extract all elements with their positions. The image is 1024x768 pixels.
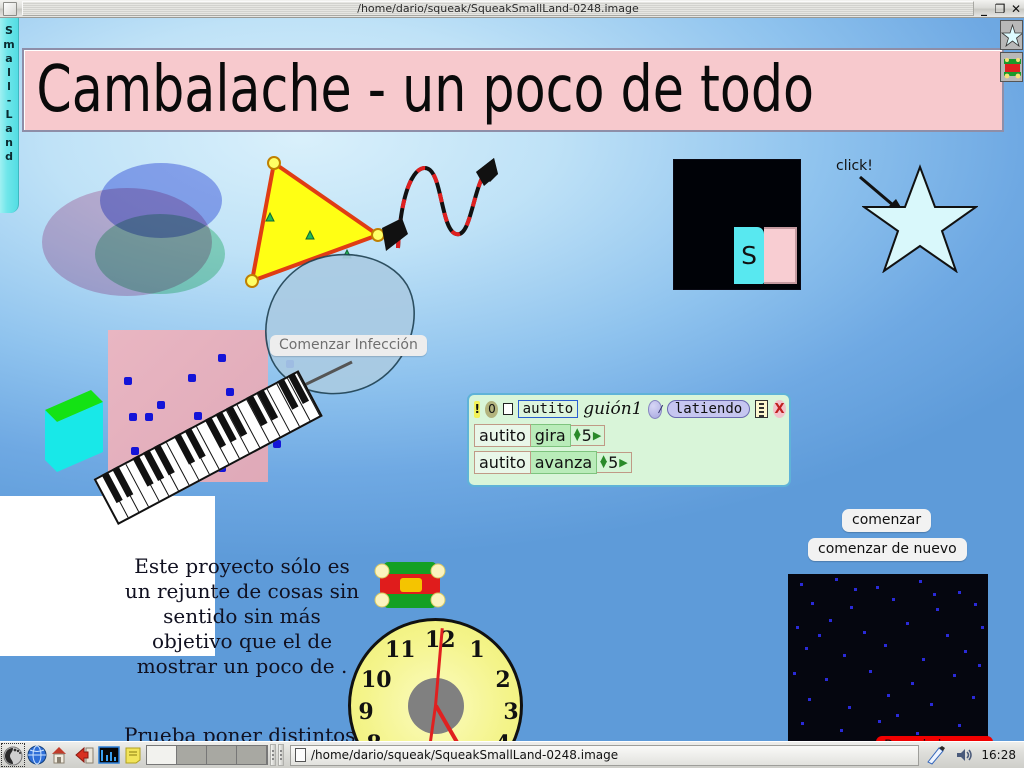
starfield-panel[interactable]: [788, 574, 988, 741]
pager-desktop-4[interactable]: [237, 746, 267, 764]
car-thumbnail-icon[interactable]: [1000, 52, 1023, 82]
pager-desktop-1[interactable]: [147, 746, 177, 764]
tile-number[interactable]: ▲▼ 5 ▶: [597, 452, 632, 473]
clock-number: 2: [490, 667, 516, 693]
taskbar-task-label: /home/dario/squeak/SqueakSmallLand-0248.…: [311, 748, 618, 762]
project-title-banner[interactable]: Cambalache - un poco de todo: [22, 48, 1004, 132]
script-menu-icon[interactable]: [755, 400, 768, 418]
flap-char-2: a: [5, 52, 12, 66]
tile-actor[interactable]: autito: [474, 424, 531, 447]
star-thumbnail-icon[interactable]: [1000, 20, 1023, 50]
project-title-text: Cambalache - un poco de todo: [24, 58, 814, 122]
flap-char-8: n: [5, 136, 13, 150]
project-paragraph-2[interactable]: Prueba poner distintos: [124, 723, 384, 741]
flap-char-9: d: [5, 150, 13, 164]
terminal-monitor-icon[interactable]: [98, 744, 120, 766]
script-status-chip[interactable]: latiendo: [667, 400, 750, 418]
panel-handle[interactable]: [278, 744, 284, 766]
black-picture-box[interactable]: S: [673, 159, 801, 290]
script-actor-chip[interactable]: autito: [518, 400, 579, 418]
script-tick-count[interactable]: 0: [485, 401, 498, 418]
cyan-box-shape[interactable]: [45, 390, 103, 472]
thumbnail-flap-letter: S: [734, 227, 764, 284]
flap-char-0: S: [5, 24, 13, 38]
car-sprite[interactable]: [370, 556, 456, 616]
desktop-pager[interactable]: [146, 745, 268, 765]
window-close-button[interactable]: ✕: [1008, 1, 1024, 17]
flap-char-7: a: [5, 122, 12, 136]
tile-verb[interactable]: avanza: [531, 451, 597, 474]
clock-number: 8: [361, 731, 387, 741]
tile-number[interactable]: ▲▼ 5 ▶: [571, 425, 606, 446]
clock-number: 4: [490, 731, 516, 741]
squeak-world-canvas[interactable]: S m a l l - L a n d Cambalache - un poco…: [0, 18, 1024, 741]
clock-icon[interactable]: [648, 400, 662, 419]
script-checkbox[interactable]: [503, 403, 512, 415]
blue-dot[interactable]: [129, 413, 137, 421]
window-title: /home/dario/squeak/SqueakSmallLand-0248.…: [22, 1, 974, 16]
stepper-icon[interactable]: ▲▼: [574, 429, 581, 441]
flap-char-6: L: [5, 108, 12, 122]
window-minimize-button[interactable]: _: [976, 1, 992, 17]
clock-number: 1: [464, 637, 490, 663]
stepper-icon[interactable]: ▲▼: [600, 456, 607, 468]
taskbar-clock: 16:28: [981, 748, 1016, 762]
blue-dot[interactable]: [145, 413, 153, 421]
flap-char-4: l: [7, 80, 11, 94]
notes-icon[interactable]: [122, 744, 144, 766]
flap-small-land[interactable]: S m a l l - L a n d: [0, 18, 19, 213]
play-icon[interactable]: ▶: [593, 429, 601, 442]
comenzar-infeccion-button[interactable]: Comenzar Infección: [270, 335, 427, 356]
comenzar-de-nuevo-button[interactable]: comenzar de nuevo: [808, 538, 967, 561]
kde-menu-icon[interactable]: [2, 744, 24, 766]
script-tile-row[interactable]: autito avanza ▲▼ 5 ▶: [474, 450, 632, 474]
pager-desktop-3[interactable]: [207, 746, 237, 764]
project-paragraph-1[interactable]: Este proyecto sólo es un rejunte de cosa…: [122, 554, 362, 679]
blue-dot[interactable]: [226, 388, 234, 396]
home-folder-icon[interactable]: [50, 744, 72, 766]
thumbnail-banner: [764, 227, 797, 284]
blue-dot[interactable]: [157, 401, 165, 409]
script-header: ! 0 autito guión1 latiendo X: [472, 398, 786, 420]
clock-number: 3: [498, 699, 524, 725]
window-titlebar[interactable]: /home/dario/squeak/SqueakSmallLand-0248.…: [0, 0, 1024, 18]
pager-desktop-2[interactable]: [177, 746, 207, 764]
comenzar-button[interactable]: comenzar: [842, 509, 931, 532]
squiggle-arrow-shape[interactable]: [372, 156, 507, 256]
analog-clock-sprite[interactable]: 12 1 2 3 4 5 6 7 8 9 10 11: [348, 618, 523, 741]
window-maximize-button[interactable]: ❐: [992, 1, 1008, 17]
flap-char-5: -: [7, 94, 12, 108]
tile-verb[interactable]: gira: [531, 424, 571, 447]
flap-char-3: l: [7, 66, 11, 80]
desktop-taskbar[interactable]: /home/dario/squeak/SqueakSmallLand-0248.…: [0, 741, 1024, 768]
venn-ellipse-green[interactable]: [95, 214, 225, 294]
blue-dot[interactable]: [218, 354, 226, 362]
blue-dot[interactable]: [124, 377, 132, 385]
window-menu-icon[interactable]: [3, 2, 17, 16]
script-name-label: guión1: [583, 399, 642, 419]
clock-number: 10: [361, 667, 387, 693]
star-shape[interactable]: [862, 163, 978, 273]
flap-char-1: m: [3, 38, 14, 52]
etoys-script-editor[interactable]: ! 0 autito guión1 latiendo X autito gira…: [467, 393, 791, 487]
tile-actor[interactable]: autito: [474, 451, 531, 474]
blue-dot[interactable]: [188, 374, 196, 382]
clock-number: 9: [353, 699, 379, 725]
system-tray[interactable]: 16:28: [925, 744, 1022, 766]
flap-right-strip[interactable]: [999, 20, 1024, 88]
clock-number: 11: [385, 637, 411, 663]
play-icon[interactable]: ▶: [619, 456, 627, 469]
home-arrow-icon[interactable]: [74, 744, 96, 766]
script-bang-button[interactable]: !: [474, 401, 480, 418]
tile-number-value: 5: [608, 453, 618, 472]
klipper-icon[interactable]: [925, 744, 947, 766]
tile-number-value: 5: [582, 426, 592, 445]
screen-root: /home/dario/squeak/SqueakSmallLand-0248.…: [0, 0, 1024, 768]
taskbar-task-button[interactable]: /home/dario/squeak/SqueakSmallLand-0248.…: [290, 745, 919, 766]
panel-handle[interactable]: [270, 744, 276, 766]
script-close-button[interactable]: X: [773, 400, 786, 418]
volume-icon[interactable]: [953, 744, 975, 766]
document-icon: [295, 748, 306, 762]
browser-globe-icon[interactable]: [26, 744, 48, 766]
script-tile-row[interactable]: autito gira ▲▼ 5 ▶: [474, 423, 605, 447]
blue-dot[interactable]: [194, 412, 202, 420]
blue-dot[interactable]: [131, 447, 139, 455]
